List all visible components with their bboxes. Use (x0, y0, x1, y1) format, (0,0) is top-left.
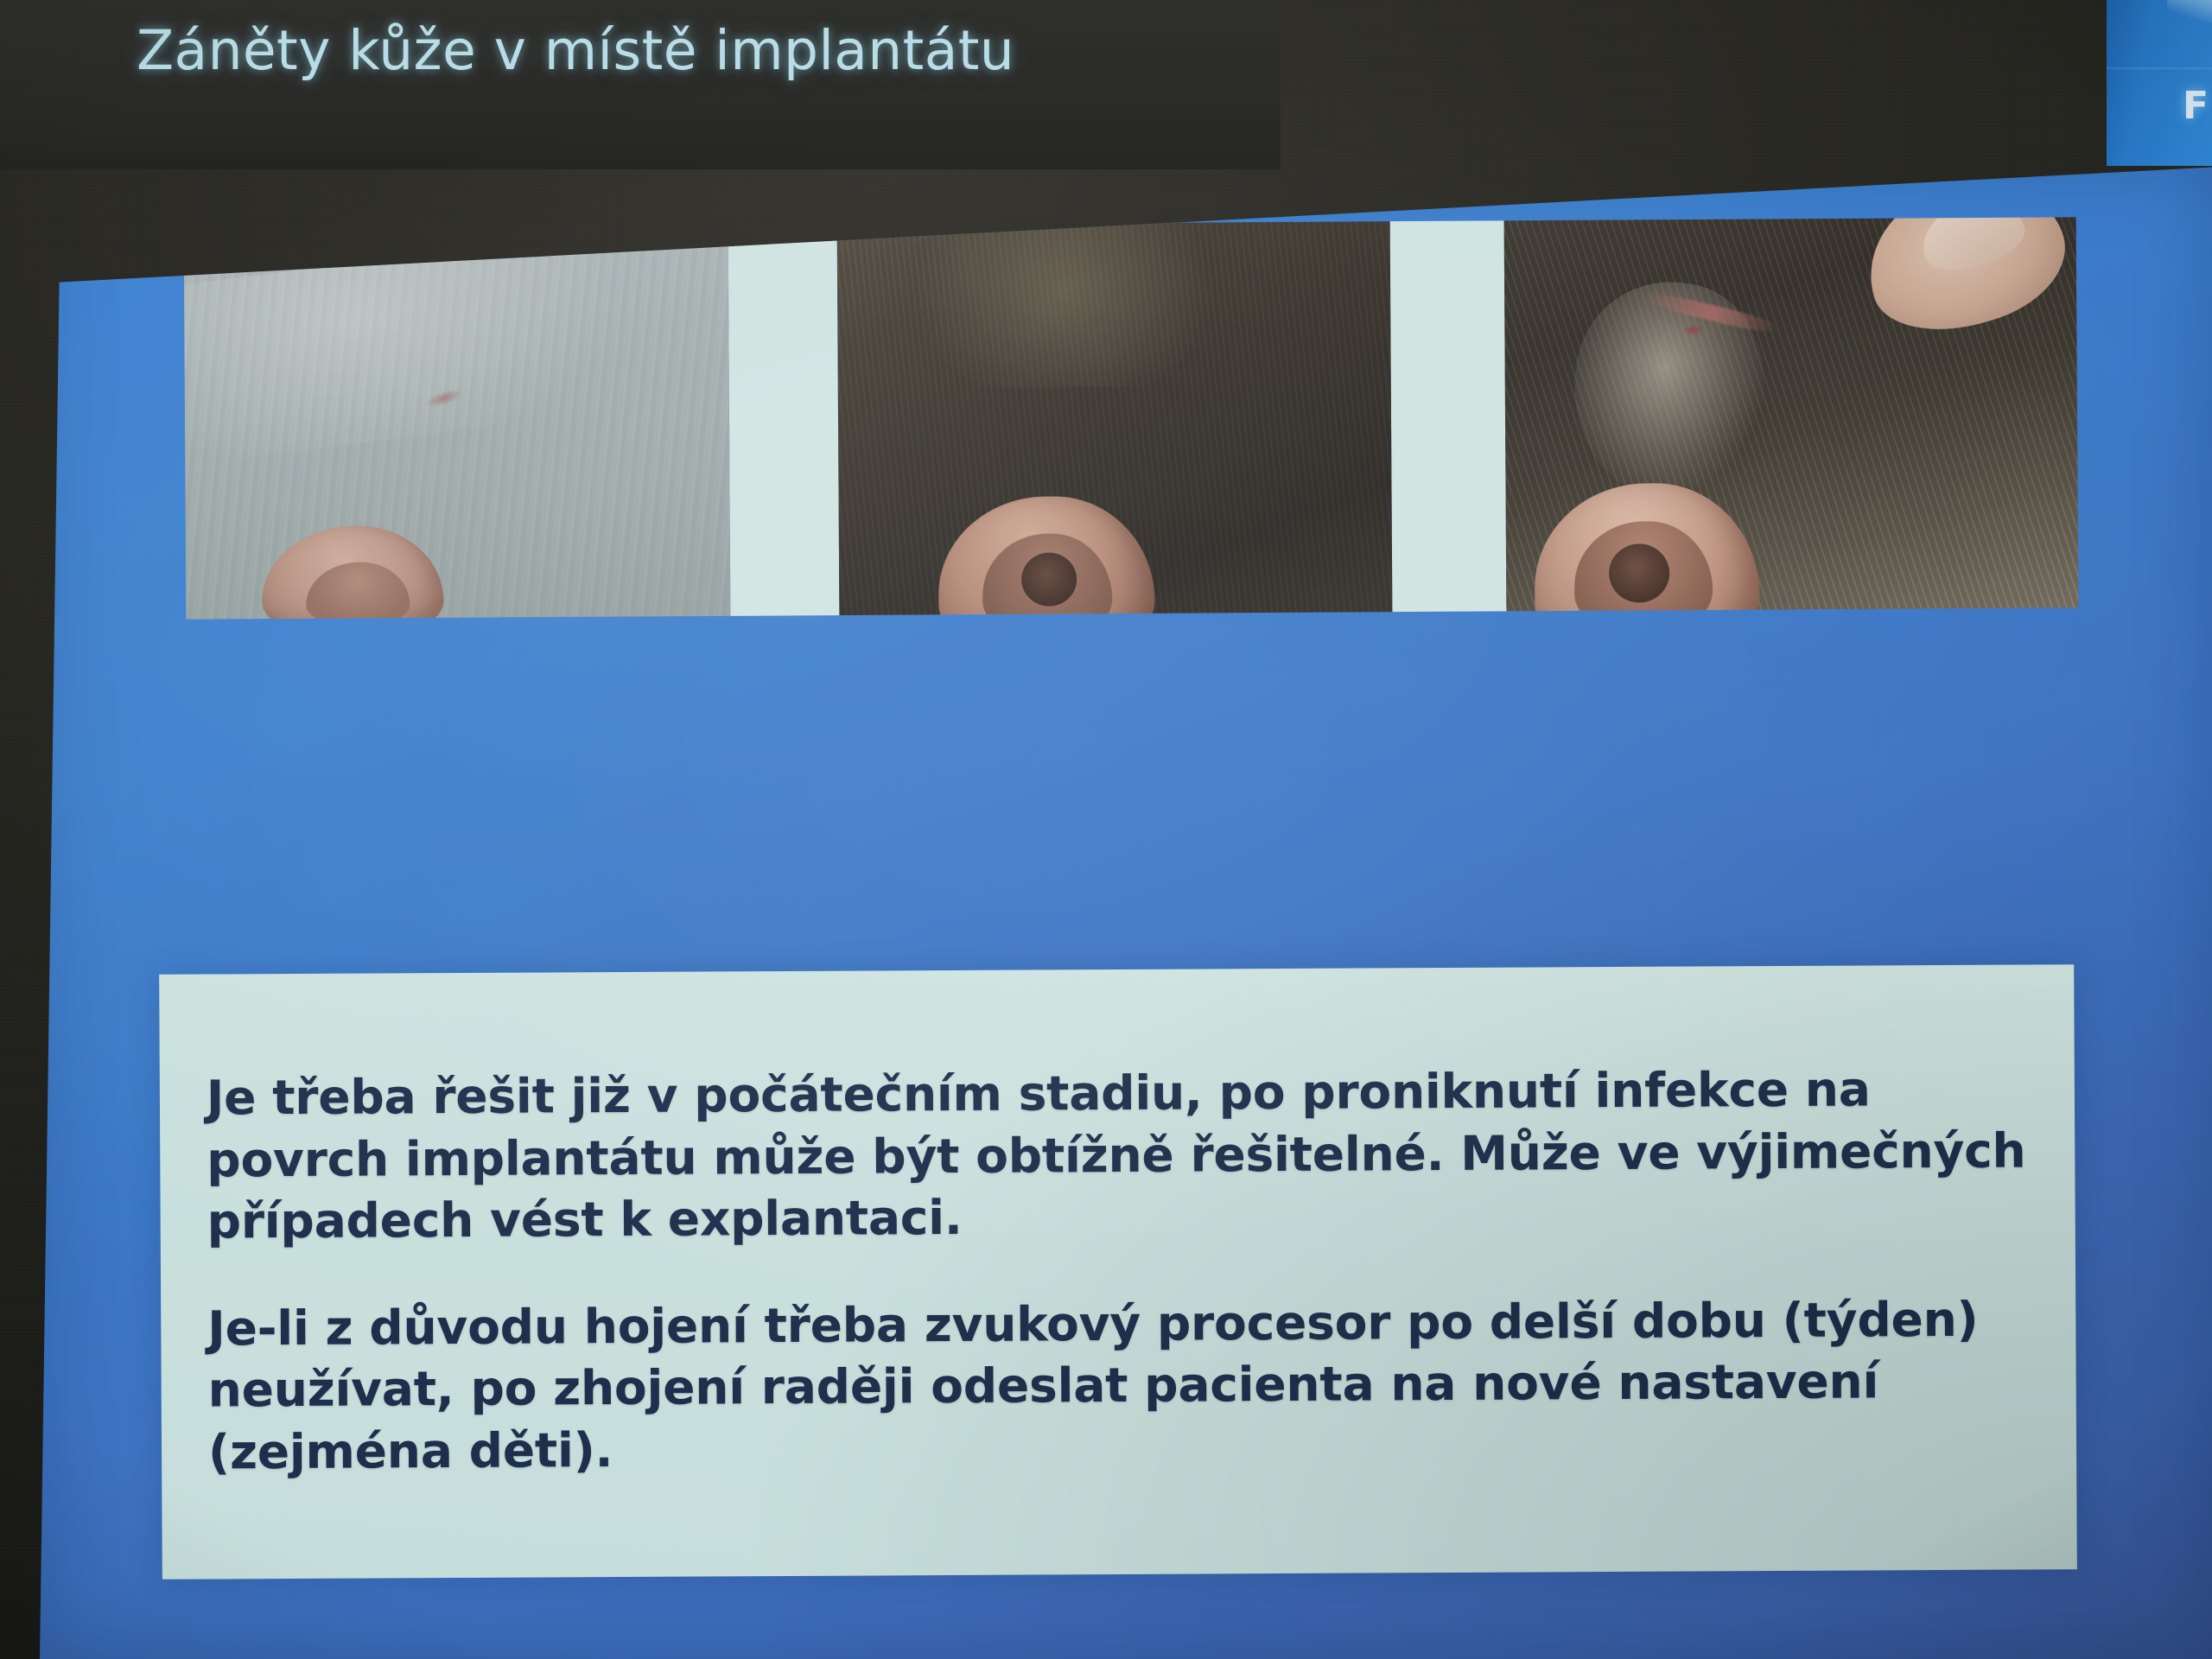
page-title: Záněty kůže v místě implantátu (137, 21, 1260, 80)
adjacent-screen-letter: F (2183, 84, 2209, 128)
photo-dark-hair-ear (837, 221, 1393, 615)
presentation-screenshot: Záněty kůže v místě implantátu F (0, 0, 2212, 1659)
body-paragraph-2: Je-li z důvodu hojení třeba zvukový proc… (207, 1288, 2037, 1484)
panel-divider (2107, 67, 2212, 69)
photo-strip (184, 217, 2079, 619)
photo-implant-site-fingers (1504, 217, 2079, 611)
adjacent-screen-panel: F (2107, 0, 2212, 166)
slide-title-band: Záněty kůže v místě implantátu (0, 0, 1281, 169)
photo2-ear-canal (1021, 552, 1077, 606)
panel-highlight (2167, 0, 2212, 22)
slide-body: Je třeba řešit již v počátečním stadiu, … (40, 164, 2212, 1659)
photo-gap-left (728, 225, 840, 616)
slide-text-content: Je třeba řešit již v počátečním stadiu, … (207, 1058, 2037, 1483)
photo-scalp-left-ear (184, 226, 731, 620)
body-paragraph-1: Je třeba řešit již v počátečním stadiu, … (207, 1058, 2036, 1253)
slide-text-box: Je třeba řešit již v počátečním stadiu, … (159, 964, 2077, 1580)
photo-gap-right (1390, 220, 1507, 612)
photo2-highlight (870, 221, 1258, 389)
photo3-ear-canal (1609, 543, 1669, 602)
